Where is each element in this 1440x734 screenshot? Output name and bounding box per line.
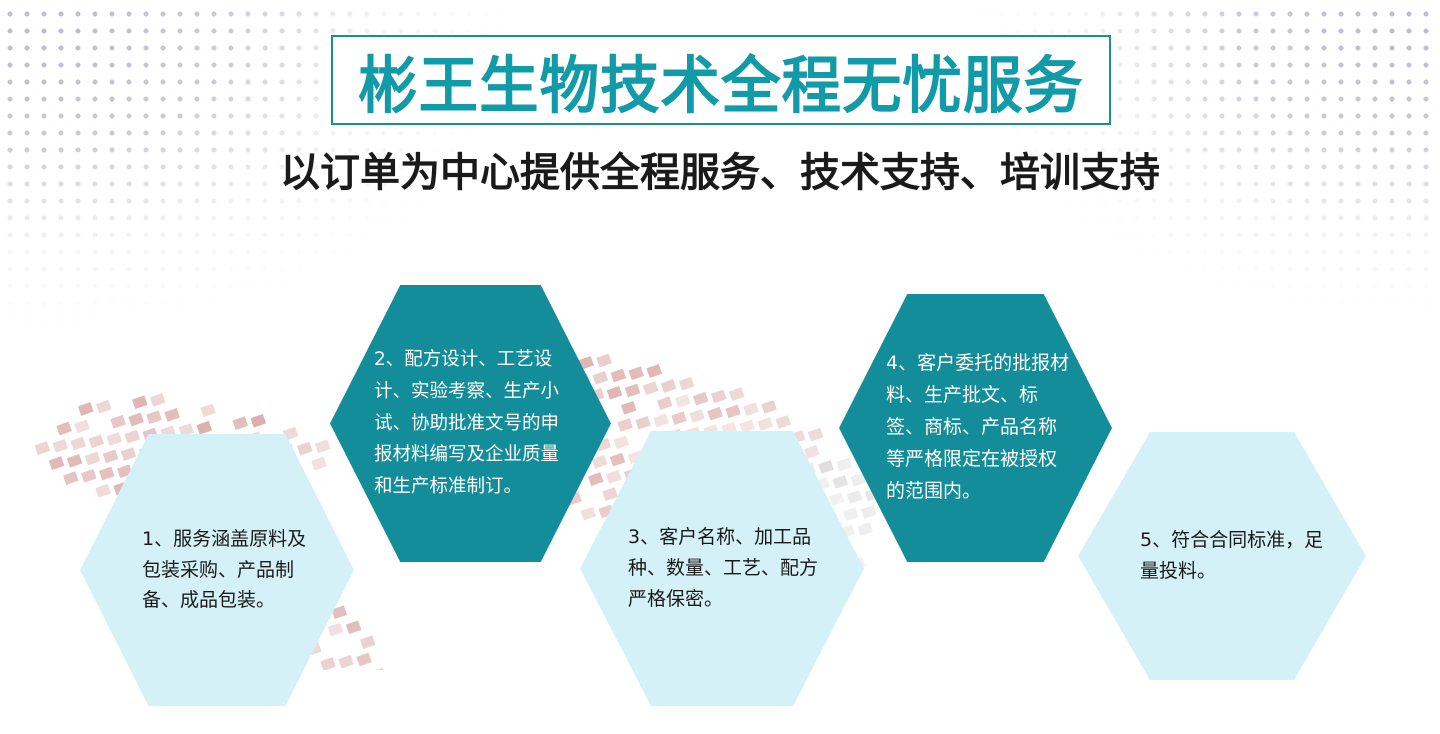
step-hexagon-1[interactable]: 1、服务涵盖原料及包装采购、产品制备、成品包装。 <box>80 434 354 706</box>
step-hexagon-2[interactable]: 2、配方设计、工艺设计、实验考察、生产小试、协助批准文号的申报材料编写及企业质量… <box>330 285 611 562</box>
step-hexagon-5[interactable]: 5、符合合同标准，足量投料。 <box>1078 432 1366 680</box>
page-title: 彬王生物技术全程无忧服务 <box>347 35 1096 125</box>
step-4-text: 4、客户委托的批报材料、生产批文、标签、商标、产品名称等严格限定在被授权的范围内… <box>886 348 1073 508</box>
page-subtitle: 以订单为中心提供全程服务、技术支持、培训支持 <box>0 140 1440 198</box>
step-2-text: 2、配方设计、工艺设计、实验考察、生产小试、协助批准文号的申报材料编写及企业质量… <box>374 344 574 503</box>
step-hexagon-4[interactable]: 4、客户委托的批报材料、生产批文、标签、商标、产品名称等严格限定在被授权的范围内… <box>839 294 1112 562</box>
step-3-text: 3、客户名称、加工品种、数量、工艺、配方严格保密。 <box>628 522 824 614</box>
step-hexagon-3[interactable]: 3、客户名称、加工品种、数量、工艺、配方严格保密。 <box>580 431 864 706</box>
step-5-text: 5、符合合同标准，足量投料。 <box>1140 525 1338 587</box>
step-1-text: 1、服务涵盖原料及包装采购、产品制备、成品包装。 <box>142 524 310 616</box>
slide-canvas: 彬王生物技术全程无忧服务 以订单为中心提供全程服务、技术支持、培训支持 1、服务… <box>0 0 1440 734</box>
